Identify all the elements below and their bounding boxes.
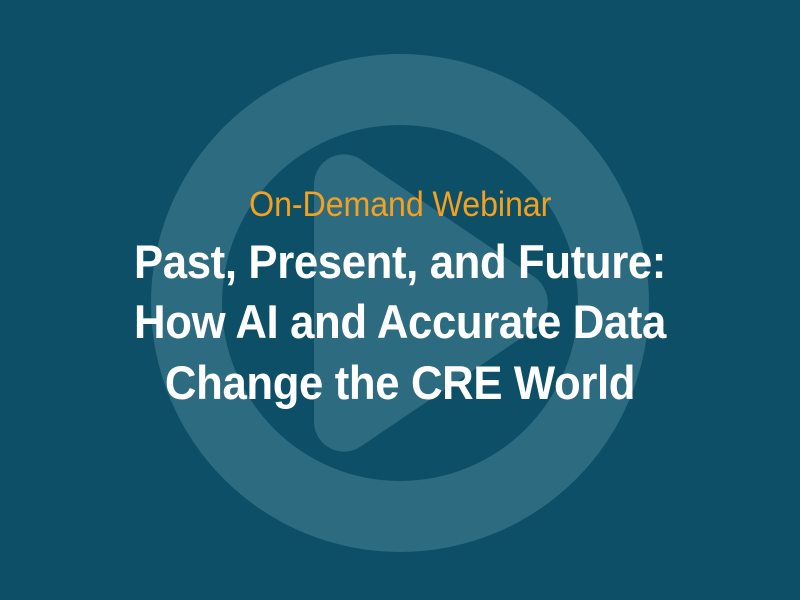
webinar-thumbnail-card[interactable]: On-Demand Webinar Past, Present, and Fut… <box>0 0 800 600</box>
title-line-2: How AI and Accurate Data <box>134 292 666 352</box>
overline-label: On-Demand Webinar <box>249 187 551 222</box>
title-line-3: Change the CRE World <box>134 353 666 413</box>
text-content: On-Demand Webinar Past, Present, and Fut… <box>0 0 800 600</box>
title-line-1: Past, Present, and Future: <box>134 232 666 292</box>
page-title: Past, Present, and Future: How AI and Ac… <box>114 232 686 412</box>
